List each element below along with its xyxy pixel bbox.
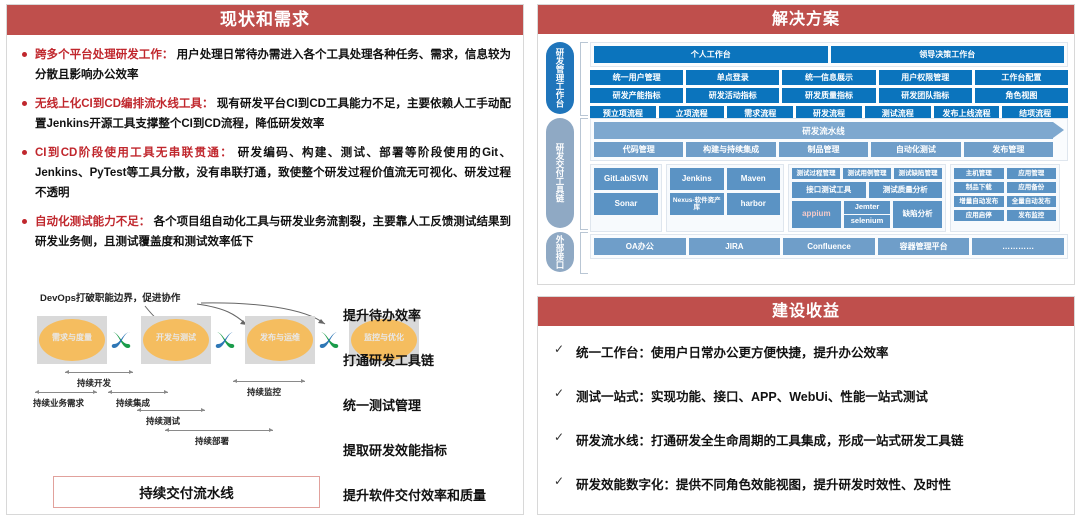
stage-build-ci[interactable]: 构建与持续集成: [686, 142, 775, 157]
range-label: 持续部署: [195, 435, 229, 447]
check-icon: ✓: [554, 474, 564, 488]
module-personal-workbench[interactable]: 个人工作台: [594, 46, 828, 63]
benefit-item: 提升待办效率: [343, 305, 523, 324]
benefit-item: 统一测试管理: [343, 395, 523, 414]
benefit-text: 研发流水线：打通研发全生命周期的工具集成，形成一站式研发工具链: [576, 434, 964, 448]
tool-row: Nexus-软件资产库 harbor: [670, 193, 780, 215]
module-unified-info-display[interactable]: 统一信息展示: [782, 70, 875, 85]
lane-tab-management-workbench: 研发管理工作台: [546, 42, 574, 114]
continuous-delivery-pipeline-box: 持续交付流水线: [53, 476, 320, 508]
infinity-icon: [109, 328, 133, 352]
tool-app-start-stop[interactable]: 应用启停: [954, 210, 1004, 221]
tool-app-backup[interactable]: 应用备份: [1007, 182, 1057, 193]
lane-tab-delivery-toolchain: 研发交付工具链: [546, 118, 574, 228]
range-label: 持续业务需求: [33, 397, 84, 409]
tool-row: GitLab/SVN: [594, 168, 658, 190]
tool-column-deploy: 主机管理 应用管理 制品下载 应用备份 增量自动发布 全量自动发布 应用启停: [950, 164, 1060, 232]
benefit-text: 统一工作台：使用户日常办公更方便快捷，提升办公效率: [576, 346, 889, 360]
module-unified-user-mgmt[interactable]: 统一用户管理: [590, 70, 683, 85]
range-label: 持续监控: [247, 386, 281, 398]
tool-jenkins[interactable]: Jenkins: [670, 168, 724, 190]
external-container-platform[interactable]: 容器管理平台: [878, 238, 970, 255]
tool-harbor[interactable]: harbor: [727, 193, 781, 215]
module-sso[interactable]: 单点登录: [686, 70, 779, 85]
tool-columns: GitLab/SVN Sonar Jenkins Maven Nexus-软件资…: [590, 164, 1068, 232]
tool-defect-analysis[interactable]: 缺陷分析: [893, 201, 942, 228]
current-status-title: 现状和需求: [7, 5, 523, 35]
external-jira[interactable]: JIRA: [689, 238, 781, 255]
tool-row: Sonar: [594, 193, 658, 215]
tool-test-quality-analysis[interactable]: 测试质量分析: [869, 182, 943, 198]
list-item: CI到CD阶段使用工具无串联贯通： 研发编码、构建、测试、部署等阶段使用的Git…: [21, 143, 511, 203]
list-item: ✓ 测试一站式：实现功能、接口、APP、WebUi、性能一站式测试: [554, 386, 1060, 405]
bullet-dot-icon: [22, 101, 27, 106]
tool-row: 增量自动发布 全量自动发布: [954, 196, 1056, 207]
module-workbench-config[interactable]: 工作台配置: [975, 70, 1068, 85]
stage-artifact-mgmt[interactable]: 制品管理: [779, 142, 868, 157]
construction-benefit-panel: 建设收益 ✓ 统一工作台：使用户日常办公更方便快捷，提升办公效率 ✓ 测试一站式…: [537, 296, 1075, 515]
tool-row: appium Jemter selenium 缺陷分析: [792, 201, 942, 228]
range-label: 持续集成: [116, 397, 150, 409]
tool-column-code: GitLab/SVN Sonar: [590, 164, 662, 232]
tool-test-case-mgmt[interactable]: 测试用例管理: [843, 168, 891, 179]
benefit-item: 提取研发效能指标: [343, 440, 523, 459]
tool-gitlab-svn[interactable]: GitLab/SVN: [594, 168, 658, 190]
tool-release-monitor[interactable]: 发布监控: [1007, 210, 1057, 221]
bullet-keyword: 无线上化CI到CD编排流水线工具：: [35, 98, 214, 110]
devops-stage: 开发与测试: [141, 316, 211, 364]
tool-column-build: Jenkins Maven Nexus-软件资产库 harbor: [666, 164, 784, 232]
range-arrow: [108, 392, 168, 393]
devops-stage: 发布与运维: [245, 316, 315, 364]
infinity-icon: [213, 328, 237, 352]
benefit-text: 研发效能数字化：提供不同角色效能视图，提升研发时效性、及时性: [576, 478, 951, 492]
devops-stage: 需求与度量: [37, 316, 107, 364]
module-team-metric[interactable]: 研发团队指标: [879, 88, 972, 103]
workbench-top-box: 个人工作台 领导决策工作台: [590, 42, 1068, 67]
status-bullet-list: 跨多个平台处理研发工作： 用户处理日常待办需进入各个工具处理各种任务、需求，信息…: [7, 35, 523, 252]
benefit-checklist: ✓ 统一工作台：使用户日常办公更方便快捷，提升办公效率 ✓ 测试一站式：实现功能…: [538, 326, 1074, 493]
external-box: OA办公 JIRA Confluence 容器管理平台 …………: [590, 234, 1068, 259]
slide-canvas: 现状和需求 跨多个平台处理研发工作： 用户处理日常待办需进入各个工具处理各种任务…: [0, 0, 1080, 519]
tool-row: 主机管理 应用管理: [954, 168, 1056, 179]
tool-row: 制品下载 应用备份: [954, 182, 1056, 193]
pipeline-box: 研发流水线 代码管理 构建与持续集成 制品管理 自动化测试 发布管理: [590, 118, 1068, 161]
module-quality-metric[interactable]: 研发质量指标: [782, 88, 875, 103]
bullet-dot-icon: [22, 150, 27, 155]
tool-row: Jenkins Maven: [670, 168, 780, 190]
bullet-dot-icon: [22, 52, 27, 57]
lane-tab-group: 研发管理工作台 研发交付工具链 外部接口: [546, 42, 576, 276]
list-item: 自动化测试能力不足： 各个项目组自动化工具与研发业务流割裂，主要靠人工反馈测试结…: [21, 212, 511, 252]
tool-nexus[interactable]: Nexus-软件资产库: [670, 193, 724, 215]
range-label: 持续开发: [77, 377, 111, 389]
range-arrow: [35, 392, 97, 393]
brace-external: [580, 232, 588, 274]
list-item: ✓ 研发流水线：打通研发全生命周期的工具集成，形成一站式研发工具链: [554, 430, 1060, 449]
benefit-text: 测试一站式：实现功能、接口、APP、WebUi、性能一站式测试: [576, 390, 928, 404]
module-user-permission-mgmt[interactable]: 用户权限管理: [879, 70, 972, 85]
tool-appium[interactable]: appium: [792, 201, 841, 228]
tool-api-test[interactable]: 接口测试工具: [792, 182, 866, 198]
external-more[interactable]: …………: [972, 238, 1064, 255]
tool-full-release[interactable]: 全量自动发布: [1007, 196, 1057, 207]
tool-jemter[interactable]: Jemter: [844, 201, 891, 214]
external-confluence[interactable]: Confluence: [783, 238, 875, 255]
bullet-dot-icon: [22, 219, 27, 224]
tool-sonar[interactable]: Sonar: [594, 193, 658, 215]
tool-row: 接口测试工具 测试质量分析: [792, 182, 942, 198]
tool-row: 应用启停 发布监控: [954, 210, 1056, 221]
bullet-keyword: CI到CD阶段使用工具无串联贯通：: [35, 147, 233, 159]
management-workbench-group: 个人工作台 领导决策工作台 统一用户管理 单点登录 统一信息展示 用户权限管理 …: [590, 42, 1068, 121]
external-interface-group: OA办公 JIRA Confluence 容器管理平台 …………: [590, 234, 1068, 259]
tool-test-defect-mgmt[interactable]: 测试缺陷管理: [894, 168, 942, 179]
workbench-row-2: 研发产能指标 研发活动指标 研发质量指标 研发团队指标 角色视图: [590, 88, 1068, 103]
infinity-icon: [317, 328, 341, 352]
tool-host-mgmt[interactable]: 主机管理: [954, 168, 1004, 179]
pipeline-stage-row: 代码管理 构建与持续集成 制品管理 自动化测试 发布管理: [594, 142, 1053, 157]
solution-panel: 解决方案 研发管理工作台 研发交付工具链 外部接口 个人工作台 领导决策工作台: [537, 4, 1075, 285]
bullet-keyword: 跨多个平台处理研发工作：: [35, 49, 173, 61]
tool-row: 测试过程管理 测试用例管理 测试缺陷管理: [792, 168, 942, 179]
module-role-view[interactable]: 角色视图: [975, 88, 1068, 103]
check-icon: ✓: [554, 342, 564, 356]
bullet-keyword: 自动化测试能力不足：: [35, 216, 150, 228]
benefit-item: 提升软件交付效率和质量: [343, 485, 523, 504]
module-activity-metric[interactable]: 研发活动指标: [686, 88, 779, 103]
benefit-item: 打通研发工具链: [343, 350, 523, 369]
benefit-title: 建设收益: [538, 297, 1074, 326]
tool-test-process-mgmt[interactable]: 测试过程管理: [792, 168, 840, 179]
tool-incremental-release[interactable]: 增量自动发布: [954, 196, 1004, 207]
tool-maven[interactable]: Maven: [727, 168, 781, 190]
external-row: OA办公 JIRA Confluence 容器管理平台 …………: [594, 238, 1064, 255]
list-item: ✓ 统一工作台：使用户日常办公更方便快捷，提升办公效率: [554, 342, 1060, 361]
brace-management: [580, 42, 588, 116]
tool-app-mgmt[interactable]: 应用管理: [1007, 168, 1057, 179]
current-status-panel: 现状和需求 跨多个平台处理研发工作： 用户处理日常待办需进入各个工具处理各种任务…: [6, 4, 524, 515]
solution-architecture-diagram: 研发管理工作台 研发交付工具链 外部接口 个人工作台 领导决策工作台 统一用户管…: [538, 34, 1074, 280]
tool-artifact-download[interactable]: 制品下载: [954, 182, 1004, 193]
workbench-row-1: 统一用户管理 单点登录 统一信息展示 用户权限管理 工作台配置: [590, 70, 1068, 85]
module-leader-decision-workbench[interactable]: 领导决策工作台: [831, 46, 1065, 63]
check-icon: ✓: [554, 430, 564, 444]
range-label: 持续测试: [146, 415, 180, 427]
brace-toolchain: [580, 118, 588, 230]
range-arrow: [233, 381, 305, 382]
list-item: 跨多个平台处理研发工作： 用户处理日常待办需进入各个工具处理各种任务、需求，信息…: [21, 45, 511, 85]
pipeline-banner: 研发流水线: [594, 122, 1053, 139]
tool-selenium[interactable]: selenium: [844, 215, 891, 228]
module-capacity-metric[interactable]: 研发产能指标: [590, 88, 683, 103]
tool-column-test: 测试过程管理 测试用例管理 测试缺陷管理 接口测试工具 测试质量分析 appiu…: [788, 164, 946, 232]
list-item: ✓ 研发效能数字化：提供不同角色效能视图，提升研发时效性、及时性: [554, 474, 1060, 493]
stage-release-mgmt[interactable]: 发布管理: [964, 142, 1053, 157]
list-item: 无线上化CI到CD编排流水线工具： 现有研发平台CI到CD工具能力不足，主要依赖…: [21, 94, 511, 134]
left-benefit-list: 提升待办效率 打通研发工具链 统一测试管理 提取研发效能指标 提升软件交付效率和…: [343, 305, 523, 530]
stage-auto-test[interactable]: 自动化测试: [871, 142, 960, 157]
stage-label: 发布与运维: [245, 332, 315, 343]
range-arrow: [65, 372, 133, 373]
solution-title: 解决方案: [538, 5, 1074, 34]
range-arrow: [165, 430, 273, 431]
stage-label: 需求与度量: [37, 332, 107, 343]
stage-code-mgmt[interactable]: 代码管理: [594, 142, 683, 157]
workbench-top-row: 个人工作台 领导决策工作台: [594, 46, 1064, 63]
check-icon: ✓: [554, 386, 564, 400]
lane-tab-external-interface: 外部接口: [546, 232, 574, 272]
range-arrow: [137, 410, 205, 411]
external-oa[interactable]: OA办公: [594, 238, 686, 255]
stage-label: 开发与测试: [141, 332, 211, 343]
